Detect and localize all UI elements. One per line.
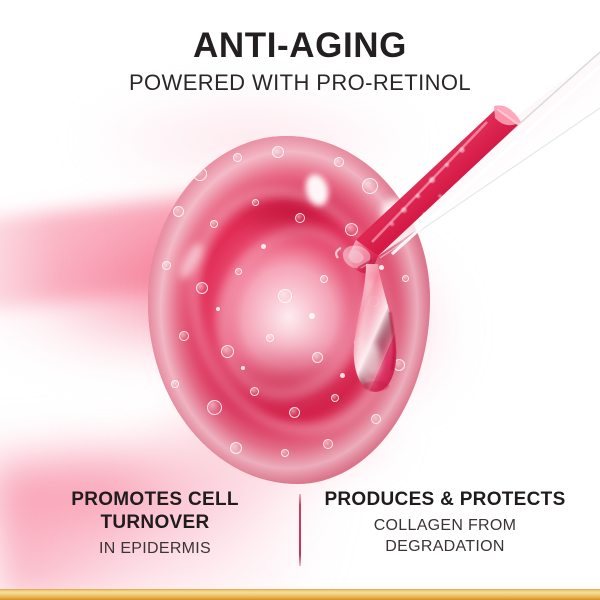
page-title: ANTI-AGING (0, 26, 600, 66)
serum-teardrop (354, 264, 397, 392)
product-claim-poster: ANTI-AGING POWERED WITH PRO-RETINOL PROM… (0, 0, 600, 600)
benefit-column-right: PRODUCES & PROTECTS COLLAGEN FROM DEGRAD… (310, 488, 580, 557)
page-subtitle: POWERED WITH PRO-RETINOL (0, 69, 600, 97)
benefit-divider (299, 494, 301, 566)
benefit-subtitle: IN EPIDERMIS (26, 538, 284, 559)
benefit-title: PROMOTES CELL TURNOVER (26, 488, 284, 534)
benefit-column-left: PROMOTES CELL TURNOVER IN EPIDERMIS (20, 488, 290, 559)
benefit-subtitle: COLLAGEN FROM DEGRADATION (316, 515, 574, 557)
benefit-title: PRODUCES & PROTECTS (316, 488, 574, 511)
pipette-serum-fill (356, 105, 521, 256)
gold-accent-bar (0, 589, 600, 600)
benefit-claims: PROMOTES CELL TURNOVER IN EPIDERMIS PROD… (0, 488, 600, 566)
